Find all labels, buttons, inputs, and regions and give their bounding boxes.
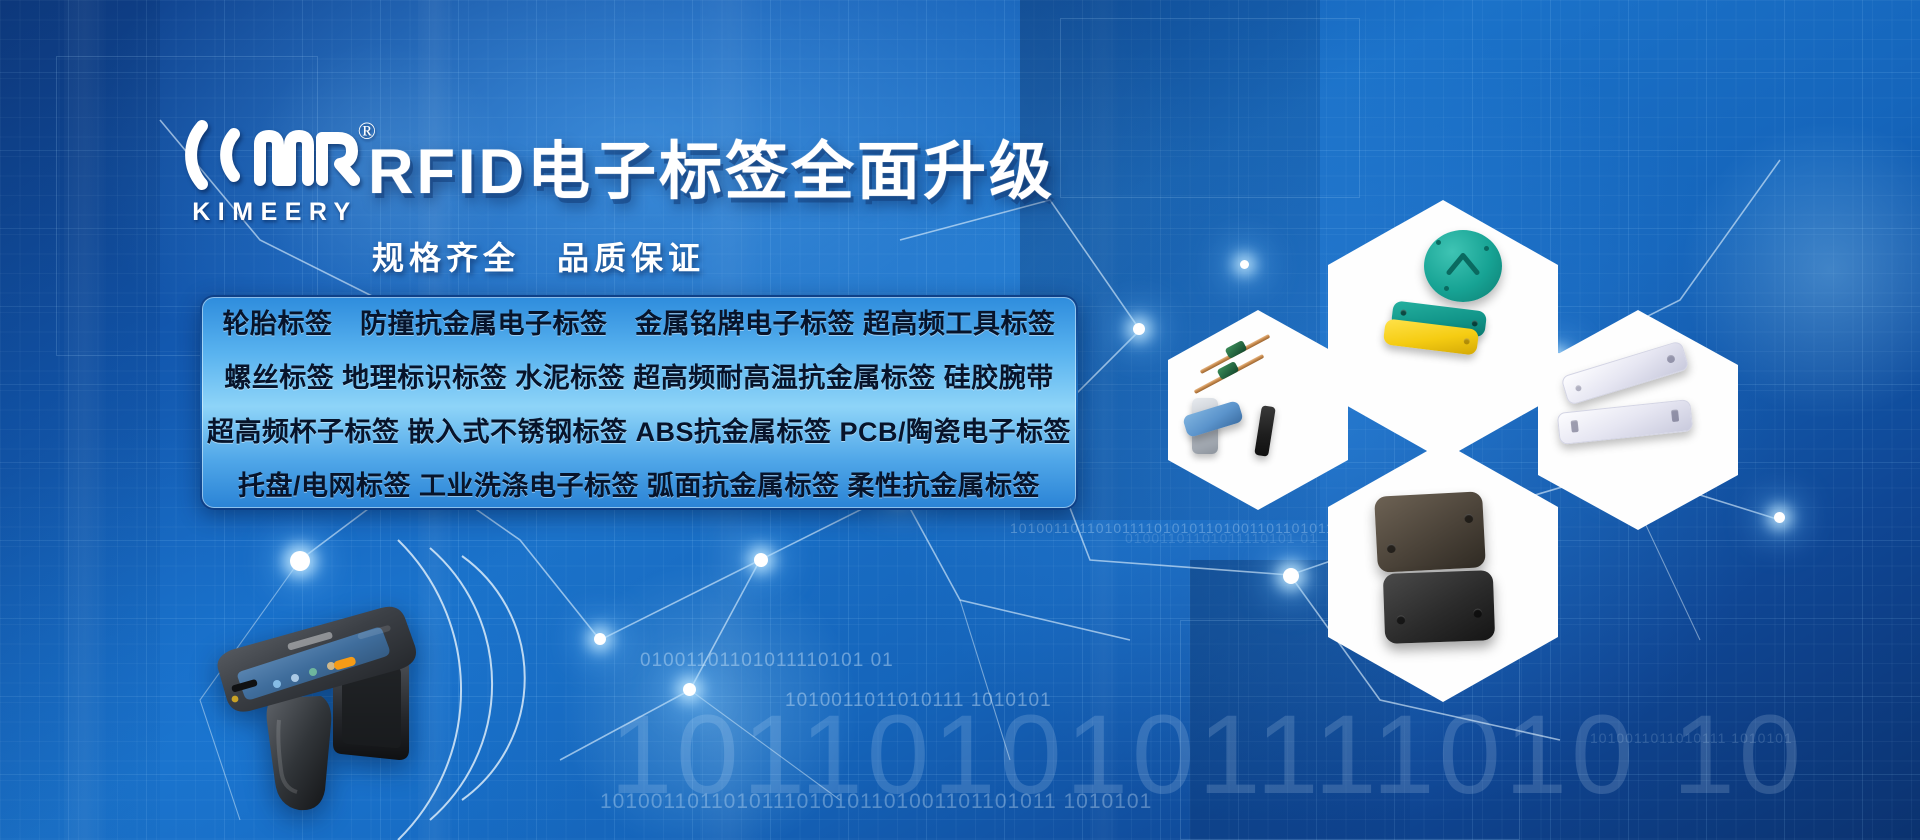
network-node xyxy=(683,683,696,696)
brand-wordmark: KIMEERY xyxy=(172,198,372,227)
hexagon-tile-rfid-rod-tags[interactable] xyxy=(1168,310,1348,510)
page-title: RFID电子标签全面升级 xyxy=(368,121,1055,212)
rfid-teal-disc-tag xyxy=(1424,230,1502,302)
background-dark-panel xyxy=(0,0,160,840)
rfid-black-stub-tag xyxy=(1254,405,1276,457)
product-list-row: 螺丝标签 地理标识标签 水泥标签 超高频耐高温抗金属标签 硅胶腕带 xyxy=(203,349,1075,403)
hexagon-tile-anti-metal-slabs[interactable] xyxy=(1328,442,1558,702)
chevron-up-icon xyxy=(1446,251,1480,282)
network-node xyxy=(1133,323,1145,335)
handheld-rfid-reader[interactable] xyxy=(195,600,485,830)
hexagon-tile-abs-bar-tags[interactable] xyxy=(1538,310,1738,530)
page-subtitle: 规格齐全 品质保证 xyxy=(372,233,705,279)
binary-text-line: 1010011011010111010101101001101101011 10… xyxy=(600,790,1152,814)
rfid-promo-banner: 01001101101011110101 01 1010011011010111… xyxy=(0,0,1920,840)
rfid-white-bar-tag-upper xyxy=(1560,340,1689,406)
product-list-row: 轮胎标签 防撞抗金属电子标签 金属铭牌电子标签 超高频工具标签 xyxy=(203,297,1075,349)
rfid-rod-chip xyxy=(1225,340,1248,359)
product-showcase xyxy=(1150,180,1790,640)
brand-logo[interactable]: ® KIMEERY xyxy=(172,118,372,227)
binary-text-line: 01001101101011110101 01 xyxy=(640,650,894,672)
product-list-row: 超高频杯子标签 嵌入式不锈钢标签 ABS抗金属标签 PCB/陶瓷电子标签 xyxy=(203,403,1075,457)
binary-text-line: 1010011011010111 1010101 xyxy=(1590,730,1793,746)
background-light-stripe xyxy=(64,0,106,840)
hexagon-tile-rfid-disc-tags[interactable] xyxy=(1328,200,1558,460)
kimeery-signal-logo-icon: ® xyxy=(172,118,372,192)
rfid-white-bar-tag-lower xyxy=(1557,399,1694,445)
rfid-anti-metal-tag-black xyxy=(1383,570,1495,644)
background-light-stripe xyxy=(1090,0,1118,840)
background-glow xyxy=(560,560,860,840)
binary-text-line: 1011010101111010 10 xyxy=(610,690,1805,819)
background-outline-box xyxy=(1060,18,1360,198)
network-node xyxy=(290,551,310,571)
product-list-row: 托盘/电网标签 工业洗涤电子标签 弧面抗金属标签 柔性抗金属标签 xyxy=(203,457,1075,509)
network-node xyxy=(594,633,606,645)
network-node xyxy=(754,553,768,567)
rfid-anti-metal-tag-brown xyxy=(1374,491,1486,573)
binary-text-line: 1010011011010111 1010101 xyxy=(785,690,1052,712)
product-list-box: 轮胎标签 防撞抗金属电子标签 金属铭牌电子标签 超高频工具标签 螺丝标签 地理标… xyxy=(200,295,1078,510)
